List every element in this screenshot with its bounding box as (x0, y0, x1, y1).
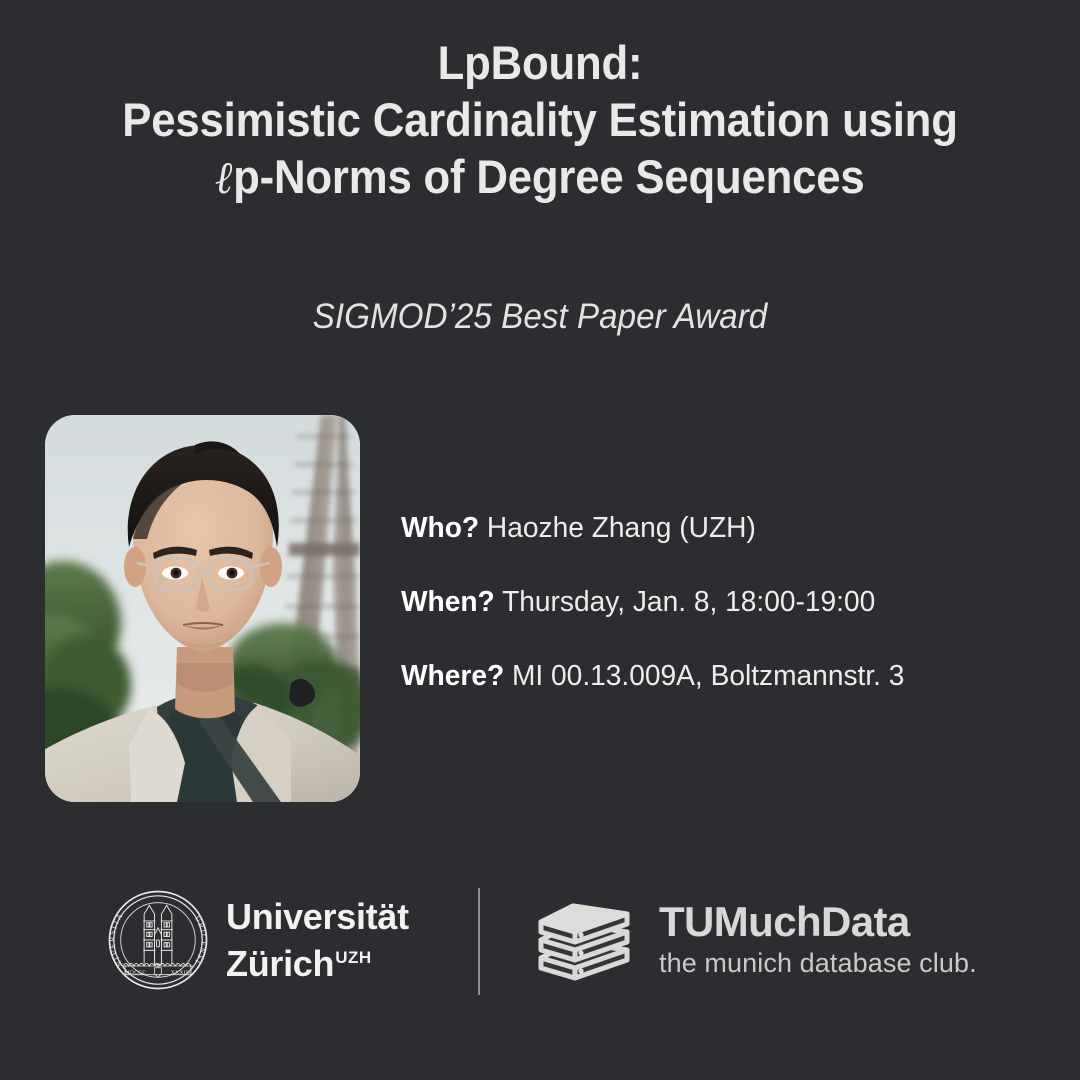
title-line-2: Pessimistic Cardinality Estimation using (38, 91, 1042, 148)
svg-text:MDCCC: MDCCC (125, 970, 147, 976)
detail-value-where: MI 00.13.009A, Boltzmannstr. 3 (504, 660, 904, 692)
tumuchdata-logo: TUMuchData the munich database club. (531, 890, 977, 987)
detail-label-when: When? (401, 586, 495, 618)
detail-label-where: Where? (401, 660, 504, 692)
logo-divider (478, 888, 480, 995)
detail-row-where: Where? MI 00.13.009A, Boltzmannstr. 3 (401, 659, 1002, 693)
uzh-seal-icon: UNIVERSITAS TURICENSIS (106, 888, 210, 992)
uzh-name-line-2: ZürichUZH (226, 937, 409, 984)
event-poster: LpBound: Pessimistic Cardinality Estimat… (0, 0, 1080, 1080)
stacked-books-icon (531, 890, 637, 987)
logo-bar: UNIVERSITAS TURICENSIS (0, 880, 1080, 1005)
uzh-logo: UNIVERSITAS TURICENSIS (106, 888, 409, 992)
detail-row-who: Who? Haozhe Zhang (UZH) (401, 511, 1002, 545)
uzh-name-line-1: Universität (226, 896, 409, 937)
tumuchdata-tagline: the munich database club. (659, 946, 977, 980)
uzh-name-zurich: Zürich (226, 943, 334, 984)
title-line-3: ℓp-Norms of Degree Sequences (38, 148, 1042, 206)
uzh-superscript: UZH (335, 948, 371, 967)
title-line-1: LpBound: (38, 34, 1042, 91)
speaker-photo (45, 415, 360, 802)
uzh-wordmark: Universität ZürichUZH (226, 896, 409, 984)
award-subtitle: SIGMOD’25 Best Paper Award (27, 296, 1053, 338)
speaker-photo-image (45, 415, 360, 802)
detail-label-who: Who? (401, 512, 479, 544)
page-title: LpBound: Pessimistic Cardinality Estimat… (0, 34, 1080, 206)
tumuchdata-wordmark: TUMuchData the munich database club. (659, 898, 977, 980)
detail-value-who: Haozhe Zhang (UZH) (479, 512, 756, 544)
detail-row-when: When? Thursday, Jan. 8, 18:00-19:00 (401, 585, 1002, 619)
svg-text:XXXIII: XXXIII (171, 970, 191, 976)
event-details: Who? Haozhe Zhang (UZH) When? Thursday, … (401, 511, 1021, 693)
tumuchdata-name: TUMuchData (659, 898, 977, 946)
ell-symbol: ℓ (215, 151, 233, 204)
title-line-3-rest: p-Norms of Degree Sequences (233, 150, 864, 203)
detail-value-when: Thursday, Jan. 8, 18:00-19:00 (495, 586, 876, 618)
